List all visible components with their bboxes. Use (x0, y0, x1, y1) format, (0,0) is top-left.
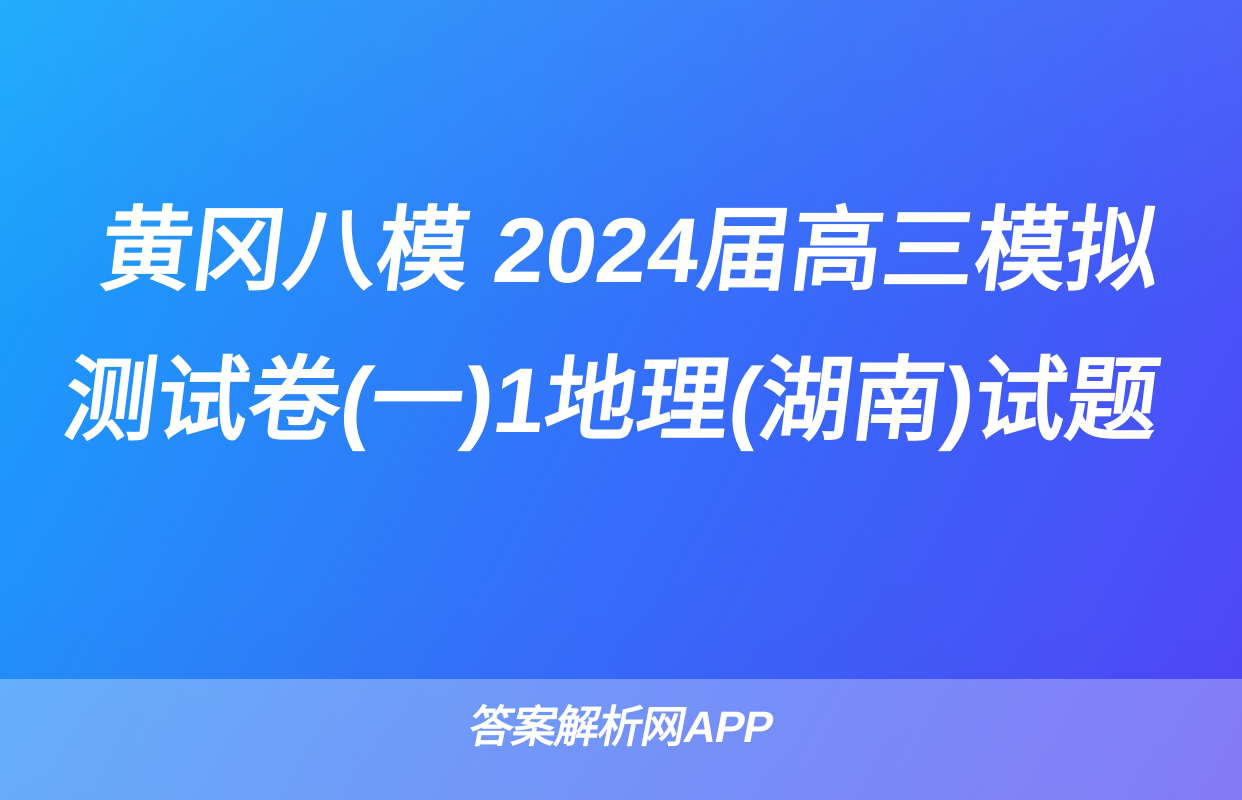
page-title: 黄冈八模 2024届高三模拟测试卷(一)1地理(湖南)试题 (0, 176, 1242, 476)
watermark-label: 答案解析网APP (465, 703, 777, 752)
page-title-text: 黄冈八模 2024届高三模拟测试卷(一)1地理(湖南)试题 (28, 176, 1215, 476)
watermark-brand: 答案解析网APP (0, 703, 1242, 753)
title-card: 黄冈八模 2024届高三模拟测试卷(一)1地理(湖南)试题 答案解析网APP (0, 0, 1242, 800)
